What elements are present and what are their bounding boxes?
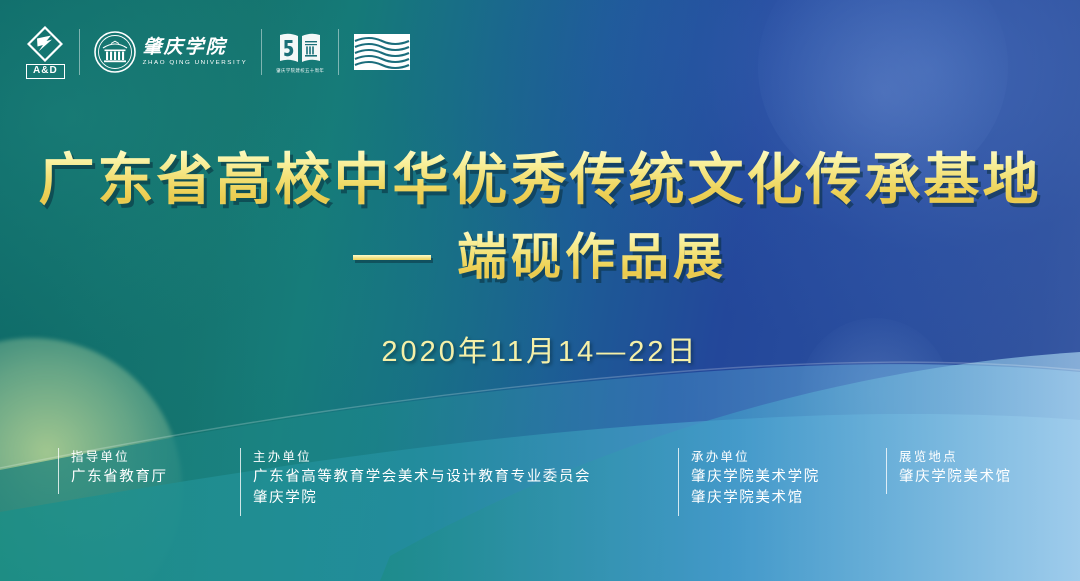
credit-line: 肇庆学院美术学院 [691,467,820,488]
wave-lines-icon [353,32,411,72]
logo-wave-lines[interactable] [339,26,425,78]
credit-heading: 主办单位 [253,448,591,467]
credit-heading: 指导单位 [71,448,168,467]
university-seal-icon [94,31,136,73]
logo-ad[interactable]: A&D [26,26,79,78]
exhibition-poster: A&D 肇庆学院 [0,0,1080,581]
zhaoqing-logo-en: ZHAO QING UNIVERSITY [143,59,248,67]
diamond-monogram-icon [27,26,63,62]
credit-block-venue: 展览地点 肇庆学院美术馆 [886,448,1012,494]
credit-line: 肇庆学院 [253,488,591,509]
poster-subtitle: 端砚作品展 [457,228,727,286]
credits-row: 指导单位 广东省教育厅 主办单位 广东省高等教育学会美术与设计教育专业委员会 肇… [0,448,1080,538]
title-block: 广东省高校中华优秀传统文化传承基地 端砚作品展 [0,148,1080,286]
credit-line: 广东省教育厅 [71,467,168,488]
credit-heading: 承办单位 [691,448,820,467]
zhaoqing-logo-cn: 肇庆学院 [143,38,248,58]
fifty-anniversary-icon [278,31,322,67]
ad-logo-text: A&D [26,64,65,79]
subtitle-row: 端砚作品展 [0,228,1080,286]
logo-zhaoqing-university[interactable]: 肇庆学院 ZHAO QING UNIVERSITY [80,26,262,78]
credit-block-host: 承办单位 肇庆学院美术学院 肇庆学院美术馆 [678,448,820,516]
credit-block-guidance: 指导单位 广东省教育厅 [58,448,168,494]
credit-line: 肇庆学院美术馆 [691,488,820,509]
logo-bar: A&D 肇庆学院 [26,24,425,80]
poster-title: 广东省高校中华优秀传统文化传承基地 [39,148,1042,214]
fifty-anniversary-subtext: 肇庆学院建校五十周年 [276,68,324,74]
em-dash-rule [353,255,431,260]
credit-heading: 展览地点 [899,448,1012,467]
credit-block-organizer: 主办单位 广东省高等教育学会美术与设计教育专业委员会 肇庆学院 [240,448,591,516]
credit-line: 广东省高等教育学会美术与设计教育专业委员会 [253,467,591,488]
logo-fifty-anniversary[interactable]: 肇庆学院建校五十周年 [262,26,338,78]
credit-line: 肇庆学院美术馆 [899,467,1012,488]
exhibition-date: 2020年11月14—22日 [0,328,1080,370]
